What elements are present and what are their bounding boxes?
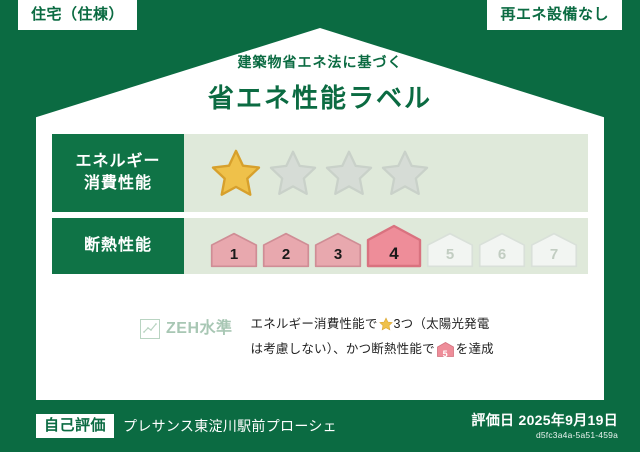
house-shape-icon xyxy=(262,232,310,268)
insulation-grade-3: 3 xyxy=(314,232,362,268)
insulation-grade-7: 7 xyxy=(530,232,578,268)
star-empty-icon xyxy=(268,148,318,198)
performance-rows: エネルギー 消費性能 断熱性能 1234567 xyxy=(52,134,588,280)
house-shape-icon xyxy=(530,232,578,268)
zeh-desc-part4: を達成 xyxy=(456,342,494,356)
inline-house-badge: 5 xyxy=(437,346,454,360)
inline-house-badge-value: 5 xyxy=(437,350,454,359)
star-filled-icon xyxy=(210,147,262,199)
energy-performance-label: 住宅（住棟） 再エネ設備なし 建築物省エネ法に基づく 省エネ性能ラベル エネルギ… xyxy=(0,0,640,452)
row-energy-label: エネルギー 消費性能 xyxy=(52,134,184,212)
badge-building-type: 住宅（住棟） xyxy=(18,0,137,30)
row-energy-value xyxy=(184,134,588,212)
zeh-description: エネルギー消費性能で3つ（太陽光発電は考慮しない）、かつ断熱性能で5を達成 xyxy=(251,314,494,365)
inline-star-icon xyxy=(379,320,393,334)
footer-bar: 自己評価 プレサンス東淀川駅前プローシェ 評価日 2025年9月19日 d5fc… xyxy=(0,400,640,452)
house-shape-icon xyxy=(210,232,258,268)
insulation-grade-6: 6 xyxy=(478,232,526,268)
zeh-desc-part2: 3つ（太陽光発電 xyxy=(394,317,490,331)
zeh-note: ZEH水準 エネルギー消費性能で3つ（太陽光発電は考慮しない）、かつ断熱性能で5… xyxy=(52,314,588,365)
row-energy-performance: エネルギー 消費性能 xyxy=(52,134,588,212)
row-energy-label-line2: 消費性能 xyxy=(84,173,152,195)
title-block: 建築物省エネ法に基づく 省エネ性能ラベル xyxy=(0,52,640,115)
title-subtitle: 建築物省エネ法に基づく xyxy=(0,52,640,72)
star-empty-icon xyxy=(380,148,430,198)
row-energy-label-line1: エネルギー xyxy=(75,151,160,173)
house-rating-scale: 1234567 xyxy=(210,224,578,268)
star-rating xyxy=(210,147,430,199)
zeh-desc-part3: は考慮しない）、かつ断熱性能で xyxy=(251,342,435,356)
badge-self-evaluation: 自己評価 xyxy=(36,414,114,438)
page-title: 省エネ性能ラベル xyxy=(0,78,640,115)
star-empty-icon xyxy=(324,148,374,198)
badge-renewable-equipment: 再エネ設備なし xyxy=(487,0,622,30)
evaluation-date: 評価日 2025年9月19日 xyxy=(471,412,618,429)
row-insulation-performance: 断熱性能 1234567 xyxy=(52,218,588,274)
zeh-mark: ZEH水準 xyxy=(140,314,233,339)
evaluation-id: d5fc3a4a-5a51-459a xyxy=(471,430,618,440)
house-shape-icon xyxy=(426,232,474,268)
house-shape-icon xyxy=(366,224,422,268)
footer-left-group: 自己評価 プレサンス東淀川駅前プローシェ xyxy=(36,414,337,438)
zeh-desc-part1: エネルギー消費性能で xyxy=(251,317,378,331)
insulation-grade-1: 1 xyxy=(210,232,258,268)
zeh-mark-label: ZEH水準 xyxy=(166,321,233,337)
row-insulation-value: 1234567 xyxy=(184,218,588,274)
insulation-grade-2: 2 xyxy=(262,232,310,268)
house-shape-icon xyxy=(478,232,526,268)
row-insulation-label: 断熱性能 xyxy=(52,218,184,274)
row-insulation-label-text: 断熱性能 xyxy=(84,235,152,257)
footer-right-group: 評価日 2025年9月19日 d5fc3a4a-5a51-459a xyxy=(471,412,618,441)
zeh-chart-icon xyxy=(140,319,160,339)
insulation-grade-4: 4 xyxy=(366,224,422,268)
insulation-grade-5: 5 xyxy=(426,232,474,268)
building-name: プレサンス東淀川駅前プローシェ xyxy=(123,416,337,436)
house-shape-icon xyxy=(314,232,362,268)
